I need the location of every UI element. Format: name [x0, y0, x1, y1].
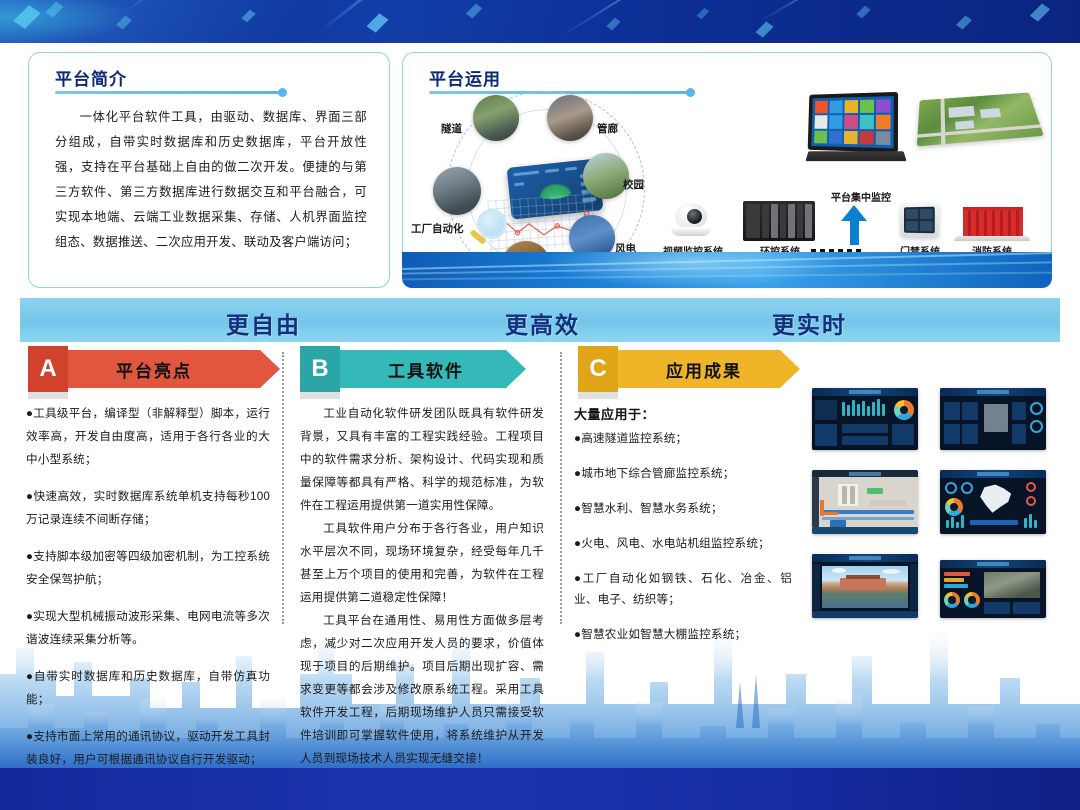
section-b-content: 工业自动化软件研发团队既具有软件研发背景，又具有丰富的工程实践经验。工程项目中的…: [300, 402, 544, 770]
section-b-paragraph-3: 工具平台在通用性、易用性方面做多层考虑，减少对二次应用开发人员的要求，价值体现于…: [300, 609, 544, 770]
platform-intro-body: 一体化平台软件工具，由驱动、数据库、界面三部分组成，自带实时数据库和历史数据库，…: [55, 105, 367, 255]
slogan-banner: 更自由 更高效 更实时: [20, 298, 1060, 342]
screenshot-header-bar: [940, 560, 1046, 568]
central-monitoring-device: [805, 93, 915, 183]
fire-protection-device: [955, 199, 1029, 243]
section-c-badge: C: [578, 346, 618, 392]
section-a-bullet-2: ●快速高效，实时数据库系统单机支持每秒100万记录连续不间断存储；: [26, 485, 270, 531]
section-b-title: 工具软件: [388, 357, 464, 382]
screenshot-header-bar: [940, 388, 1046, 396]
section-c-title: 应用成果: [666, 357, 742, 382]
environment-control-device: [743, 201, 815, 241]
scenario-node-campus: [583, 153, 629, 199]
section-b-paragraph-1: 工业自动化软件研发团队既具有软件研发背景，又具有丰富的工程实践经验。工程项目中的…: [300, 402, 544, 517]
section-a-bullet-4: ●实现大型机械振动波形采集、电网电流等多次谐波连续采集分析等。: [26, 605, 270, 651]
access-panel-screen: [904, 207, 935, 234]
platform-intro-title: 平台简介: [55, 65, 127, 90]
section-b-paragraph-2: 工具软件用户分布于各行各业，用户知识水平层次不同，现场环境复杂，经受每年几千甚至…: [300, 517, 544, 609]
section-c-body: 应用成果: [618, 350, 780, 388]
access-control-device: [900, 202, 938, 237]
section-a-content: ●工具级平台，编译型（非解释型）脚本，运行效率高，开发自由度高，适用于各行各业的…: [26, 402, 270, 785]
magnifier-icon: [477, 209, 507, 239]
section-c-bullet-1: ●高速隧道监控系统；: [574, 428, 792, 449]
process-scada-screenshot: [812, 470, 918, 534]
section-c-bullet-6: ●智慧农业如智慧大棚监控系统；: [574, 624, 792, 645]
fire-rack-base: [954, 236, 1030, 241]
section-a-badge: A: [28, 346, 68, 392]
video-feed-image: [822, 566, 908, 608]
china-map-shape: [978, 484, 1014, 516]
machine-photo: [984, 572, 1040, 598]
section-header-c: 应用成果 C: [578, 350, 780, 388]
scenario-node-tunnel: [473, 95, 519, 141]
slogan-1: 更自由: [226, 306, 301, 340]
underline-dot-icon: [278, 88, 287, 97]
slogan-3: 更实时: [772, 306, 847, 340]
equipment-monitor-screenshot: [940, 388, 1046, 450]
title-underline: [55, 91, 283, 94]
laptop-illustration: [808, 92, 898, 153]
section-c-bullet-4: ●火电、风电、水电站机组监控系统；: [574, 533, 792, 554]
screenshot-header-bar: [812, 388, 918, 396]
laptop-screen: [811, 96, 893, 148]
video-surveillance-device: [671, 203, 713, 239]
section-a-bullet-5: ●自带实时数据库和历史数据库，自带仿真功能；: [26, 665, 270, 711]
section-header-b: 工具软件 B: [300, 350, 506, 388]
section-a-body: 平台亮点: [68, 350, 260, 388]
section-c-bullet-2: ●城市地下综合管廊监控系统；: [574, 463, 792, 484]
section-c-bullet-3: ●智慧水利、智慧水务系统；: [574, 498, 792, 519]
section-c-heading: 大量应用于：: [574, 404, 655, 423]
slogan-2: 更高效: [505, 306, 580, 340]
scenario-node-pipe-gallery: [547, 95, 593, 141]
upward-arrow-icon: [841, 205, 867, 245]
aerial-site-photo: [917, 93, 1044, 147]
platform-application-title: 平台运用: [429, 65, 501, 90]
section-a-title: 平台亮点: [116, 357, 192, 382]
section-a-bullet-3: ●支持脚本级加密等四级加密机制，为工控系统安全保驾护航；: [26, 545, 270, 591]
section-c-content: ●高速隧道监控系统； ●城市地下综合管廊监控系统； ●智慧水利、智慧水务系统； …: [574, 428, 792, 659]
section-a-bullet-1: ●工具级平台，编译型（非解释型）脚本，运行效率高，开发自由度高，适用于各行各业的…: [26, 402, 270, 471]
machine-monitor-screenshot: [940, 560, 1046, 618]
section-c-arrow: [780, 350, 800, 388]
laptop-keyboard: [805, 151, 906, 161]
column-separator-2: [560, 352, 562, 624]
poster-page: 平台简介 一体化平台软件工具，由驱动、数据库、界面三部分组成，自带实时数据库和历…: [0, 0, 1080, 810]
device-label-central-monitoring: 平台集中监控: [805, 189, 917, 204]
camera-head-icon: [675, 203, 707, 229]
screenshot-header-bar: [812, 554, 918, 562]
scenario-label-pipe-gallery: 管廊: [597, 121, 618, 136]
section-b-badge: B: [300, 346, 340, 392]
wave-decoration-strip: [402, 252, 1052, 288]
section-c-bullet-5: ●工厂自动化如钢铁、石化、冶金、铝业、电子、纺织等；: [574, 568, 792, 610]
screenshot-header-bar: [812, 470, 918, 477]
china-map-dashboard-screenshot: [940, 470, 1046, 534]
scenario-label-factory-automation: 工厂自动化: [411, 221, 464, 236]
scenario-label-campus: 校园: [623, 177, 644, 192]
section-b-body: 工具软件: [340, 350, 506, 388]
section-b-arrow: [506, 350, 526, 388]
camera-base: [671, 227, 711, 236]
scenario-node-factory-automation: [433, 167, 481, 215]
screenshot-header-bar: [940, 470, 1046, 478]
energy-dashboard-screenshot: [812, 388, 918, 450]
scenario-label-tunnel: 隧道: [441, 121, 462, 136]
section-header-a: 平台亮点 A: [28, 350, 260, 388]
top-decorative-band: [0, 0, 1080, 43]
underline-dot-icon: [686, 88, 695, 97]
camera-lens-icon: [687, 209, 702, 224]
section-a-arrow: [260, 350, 280, 388]
fire-cylinder-rack: [963, 207, 1023, 237]
column-separator-1: [282, 352, 284, 624]
video-surveillance-screenshot: [812, 554, 918, 618]
section-a-bullet-6: ●支持市面上常用的通讯协议，驱动开发工具封装良好，用户可根据通讯协议自行开发驱动…: [26, 725, 270, 771]
platform-intro-panel: 平台简介 一体化平台软件工具，由驱动、数据库、界面三部分组成，自带实时数据库和历…: [28, 52, 390, 288]
